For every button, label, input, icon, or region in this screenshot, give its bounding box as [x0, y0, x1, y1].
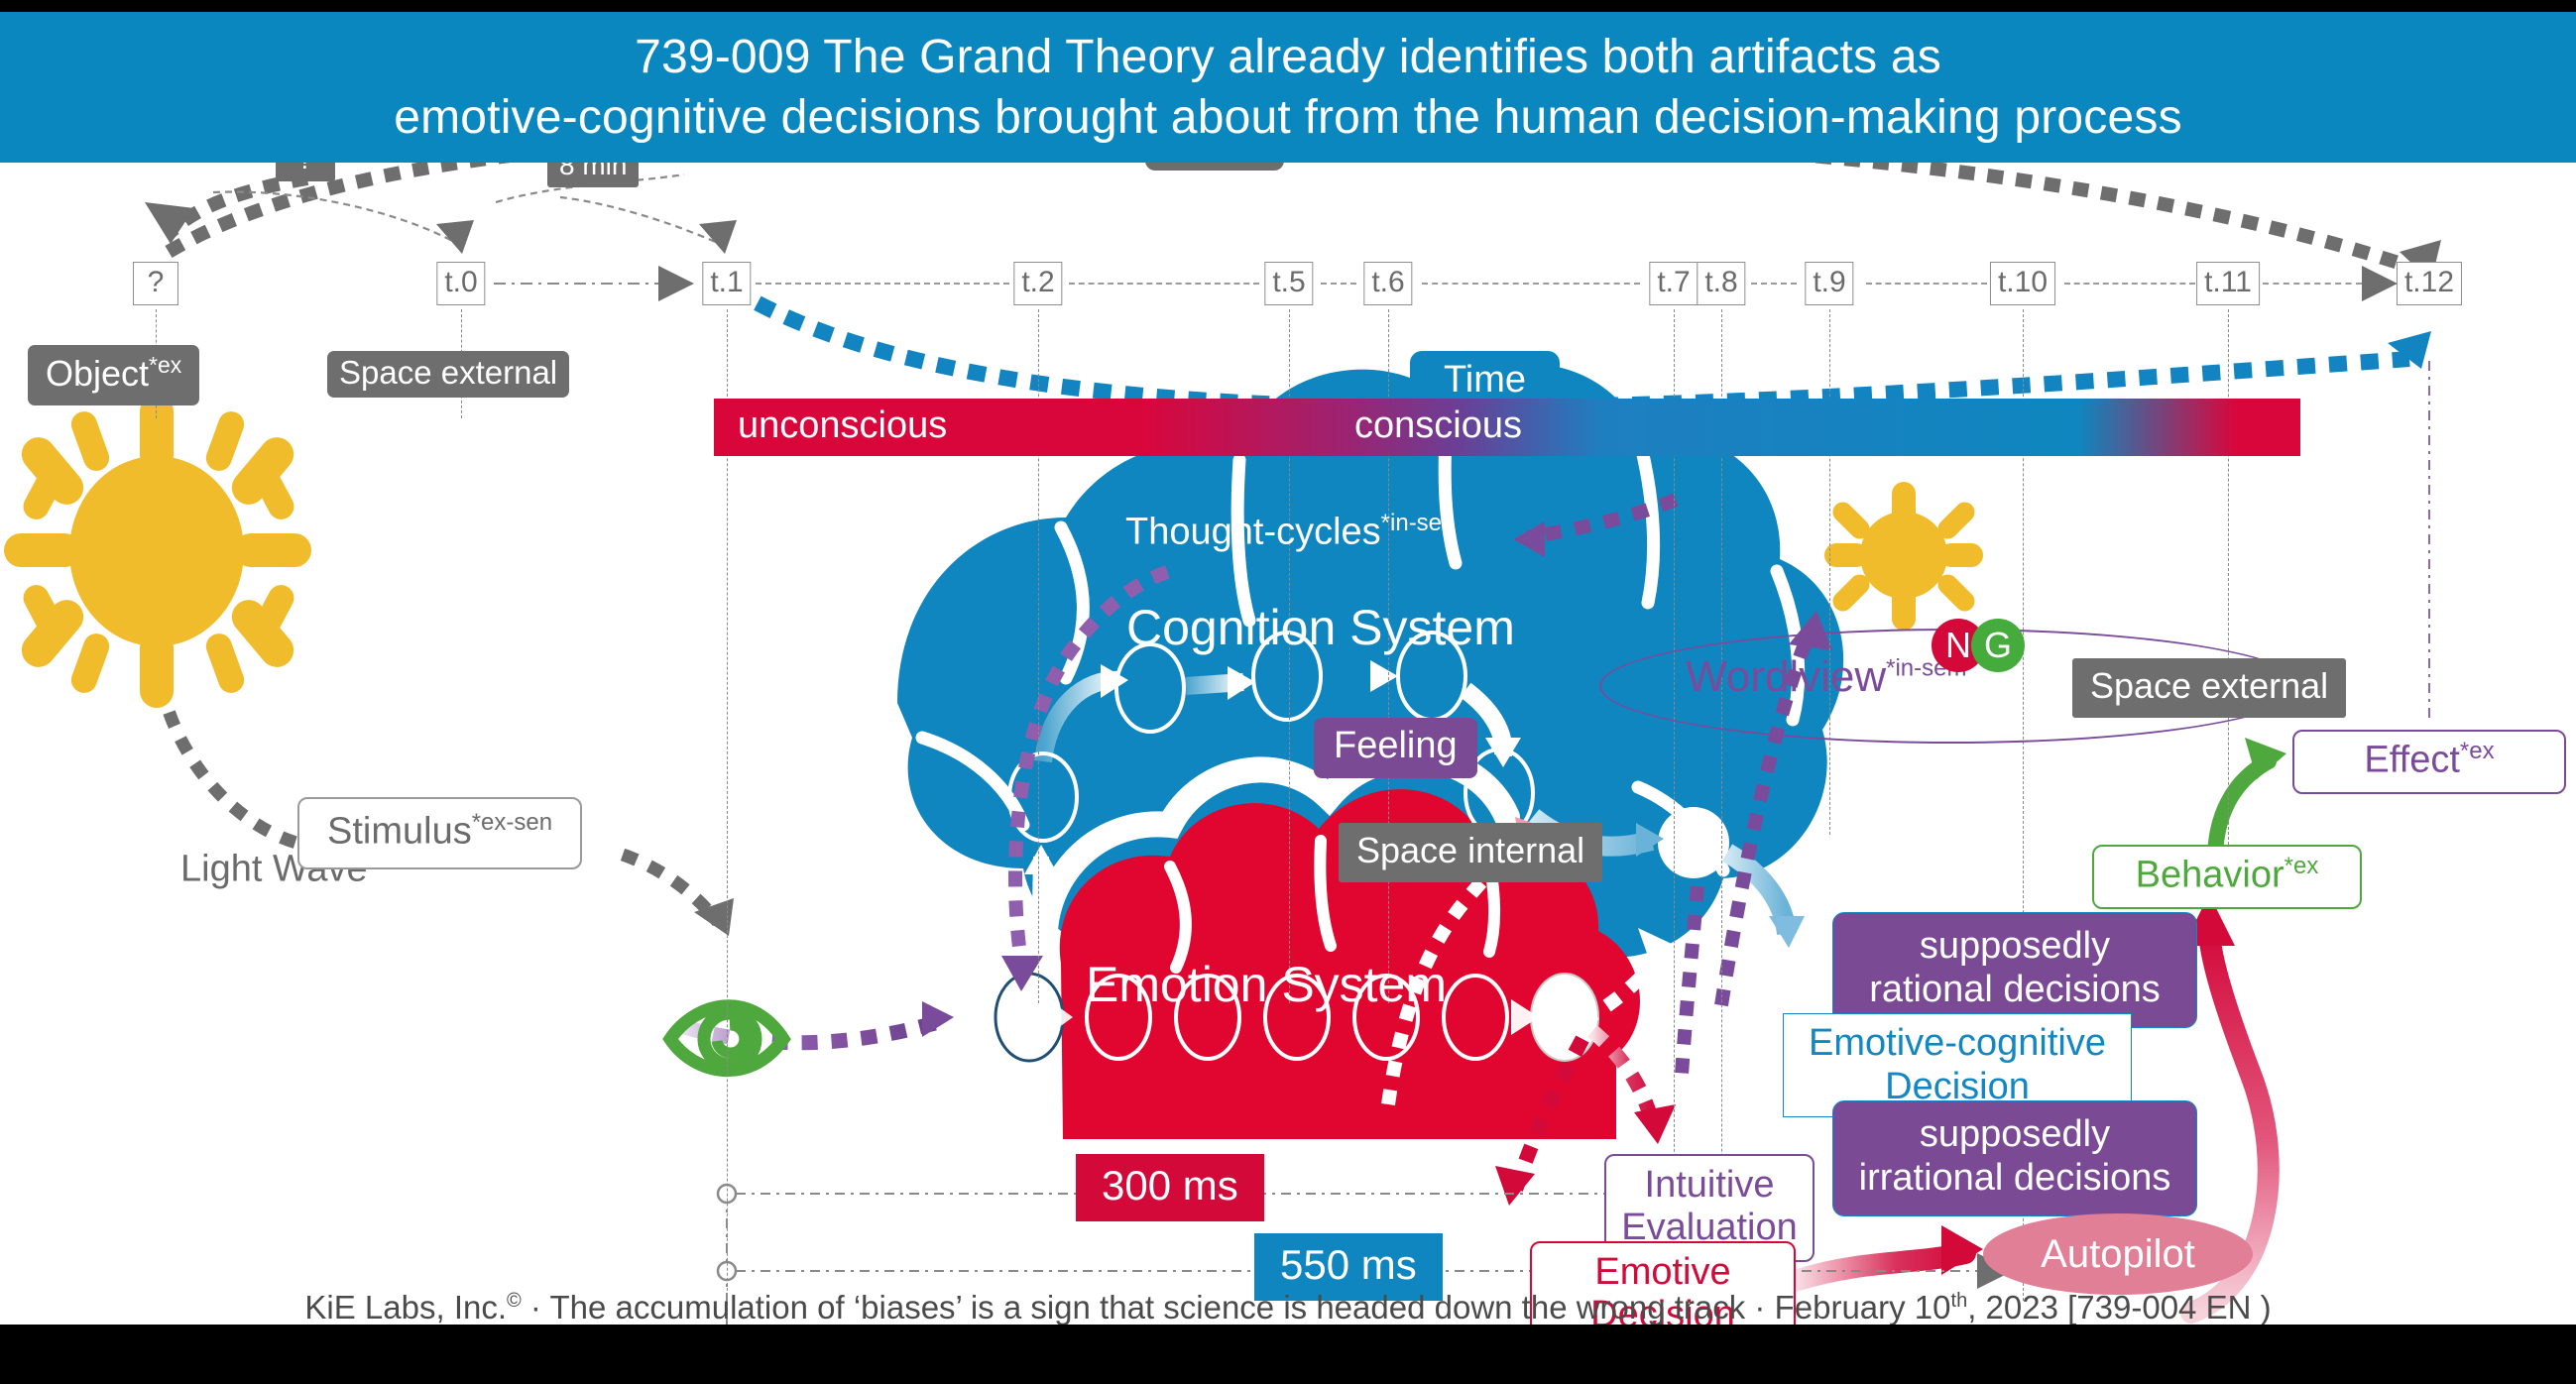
space-external-left-label: Space external [327, 351, 569, 398]
footer-copyright: © [507, 1290, 522, 1312]
thought-cycles-sup: *in-sen [1381, 510, 1456, 536]
axis-seg-4 [1422, 283, 1640, 285]
footer-caption: KiE Labs, Inc.© · The accumulation of ‘b… [0, 1289, 2576, 1326]
worldview-label: Wordlview*in-sem [1686, 652, 1966, 702]
stimuli-sup: *in-sen [906, 857, 981, 883]
behavior-text: Behavior [2136, 855, 2284, 896]
stimuli-label: Stimuli*in-sen [793, 857, 981, 901]
axis-seg-2 [1069, 283, 1259, 285]
ecd-line-1: Emotive-cognitive [1796, 1022, 2119, 1066]
thought-cycles-text: Thought-cycles [1125, 512, 1381, 553]
footer-body: · The accumulation of ‘biases’ is a sign… [522, 1289, 1951, 1326]
stimuli-text: Stimuli [793, 859, 906, 900]
stimulus-text: Stimulus [327, 811, 472, 853]
autopilot-ellipse: Autopilot [1983, 1213, 2253, 1295]
emotive-line-1: Emotive [1542, 1251, 1784, 1294]
tick-t9[interactable]: t.9 [1805, 262, 1853, 305]
effect-text: Effect [2364, 740, 2459, 781]
tick-t0[interactable]: t.0 [436, 262, 485, 305]
guide-t11 [2228, 309, 2229, 845]
stimulus-sup: *ex-sen [472, 809, 552, 836]
space-external-right-label: Space external [2072, 658, 2346, 718]
future-chip: Future [1145, 163, 1284, 171]
footer-ordinal: th [1951, 1290, 1968, 1312]
axis-seg-7 [2064, 283, 2195, 285]
axis-seg-8 [2263, 283, 2362, 285]
guide-t9 [1829, 309, 1830, 835]
tick-t5[interactable]: t.5 [1264, 262, 1313, 305]
tick-t10[interactable]: t.10 [1990, 262, 2055, 305]
object-label-sup: *ex [149, 352, 181, 378]
unconscious-label: unconscious [738, 404, 947, 447]
thought-cycles-label: Thought-cycles*in-sen [1125, 510, 1455, 554]
space-internal-label: Space internal [1339, 823, 1602, 882]
badge-g: G [1971, 619, 2025, 672]
axis-seg-6 [1866, 283, 1987, 285]
rational-line-2: rational decisions [1853, 969, 2176, 1012]
tick-t12[interactable]: t.12 [2397, 262, 2462, 305]
axis-seg-3 [1321, 283, 1356, 285]
footer-prefix: KiE Labs, Inc. [304, 1289, 507, 1326]
tick-t2[interactable]: t.2 [1013, 262, 1062, 305]
rational-line-1: supposedly [1853, 925, 2176, 969]
cognition-system-label: Cognition System [1126, 599, 1515, 656]
irrational-decisions-box: supposedly irrational decisions [1832, 1100, 2197, 1216]
footer-suffix: , 2023 [739-004 EN ) [1967, 1289, 2271, 1326]
object-label-text: Object [46, 353, 149, 394]
intuitive-line-1: Intuitive [1616, 1164, 1803, 1207]
tick-t6[interactable]: t.6 [1363, 262, 1412, 305]
title-line-1: 739-009 The Grand Theory already identif… [635, 27, 1941, 87]
consciousness-bar: unconscious conscious [714, 399, 2300, 456]
question-chip: ? [276, 163, 335, 181]
stimulus-box: Stimulus*ex-sen [297, 797, 582, 869]
irrational-line-2: irrational decisions [1853, 1157, 2176, 1201]
irrational-line-1: supposedly [1853, 1113, 2176, 1157]
behavior-sup: *ex [2284, 853, 2319, 879]
axis-seg-1 [756, 283, 1009, 285]
title-banner: 739-009 The Grand Theory already identif… [0, 12, 2576, 163]
effect-sup: *ex [2460, 738, 2495, 764]
guide-t1 [727, 309, 728, 1325]
feeling-chip: Feeling [1314, 718, 1477, 778]
behavior-box: Behavior*ex [2092, 845, 2362, 909]
tick-t7[interactable]: t.7 [1649, 262, 1698, 305]
sun-worldview-icon [1824, 482, 1983, 631]
worldview-text: Wordlview [1686, 652, 1886, 701]
interval-chip: 8 min [547, 163, 639, 187]
sun-object-icon [4, 395, 311, 708]
tick-t11[interactable]: t.11 [2196, 262, 2260, 305]
tick-q[interactable]: ? [133, 262, 178, 305]
diagram-canvas: ? t.0 t.1 t.2 t.5 t.6 t.7 t.8 t.9 t.10 t… [0, 163, 2576, 1325]
duration-300ms-chip: 300 ms [1076, 1154, 1264, 1221]
rational-decisions-box: supposedly rational decisions [1832, 912, 2197, 1028]
footer-bar [0, 1325, 2576, 1384]
effect-box: Effect*ex [2292, 730, 2566, 794]
axis-seg-5 [1751, 283, 1797, 285]
tick-t8[interactable]: t.8 [1697, 262, 1745, 305]
conscious-label: conscious [1354, 404, 1522, 447]
diagram-root: 739-009 The Grand Theory already identif… [0, 0, 2576, 1384]
emotion-system-label: Emotion System [1086, 956, 1447, 1013]
title-line-2: emotive-cognitive decisions brought abou… [394, 87, 2182, 148]
tick-t1[interactable]: t.1 [702, 262, 751, 305]
object-label: Object*ex [28, 345, 199, 405]
